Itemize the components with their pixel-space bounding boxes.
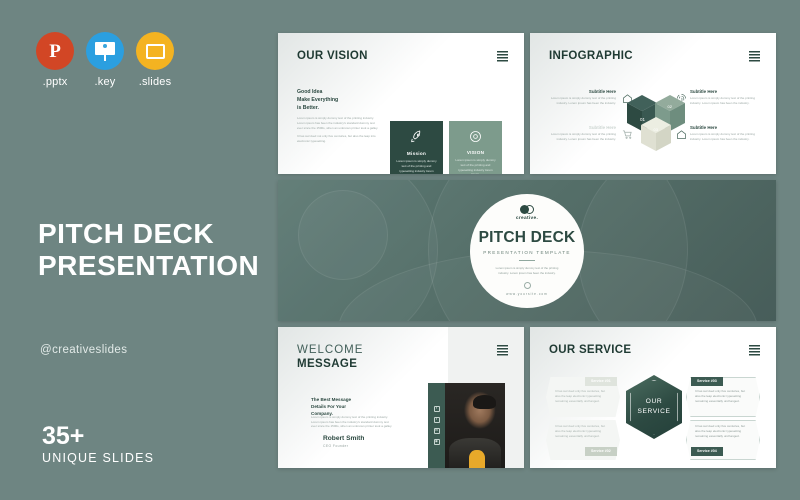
social-icon-strip: f t in ◉ — [428, 383, 445, 468]
service-body: It has survived only five centuries, but… — [555, 424, 611, 438]
service-tag: Service #02 — [585, 447, 617, 456]
slide-our-service[interactable]: OUR SERVICE Service #01 Service #02 Serv… — [530, 327, 776, 468]
twitter-icon[interactable]: t — [434, 417, 440, 423]
cover-body: Lorem ipsum is simply dummy text of the … — [490, 266, 564, 276]
linkedin-icon[interactable]: in — [434, 428, 440, 434]
slide-title: INFOGRAPHIC — [549, 50, 633, 62]
format-slides-label: .slides — [136, 76, 174, 88]
infographic-item: Subtitle Here Lorem ipsum is simply dumm… — [546, 125, 616, 141]
slide-cover[interactable]: creative. PITCH DECK PRESENTATION TEMPLA… — [278, 180, 776, 321]
globe-icon — [524, 282, 531, 289]
person-name: Robert Smith — [323, 435, 364, 442]
two-circles-logo — [520, 205, 535, 214]
vision-card-title: VISION — [467, 150, 484, 155]
infographic-subtitle: Subtitle Here — [546, 89, 616, 94]
promo-title: PITCH DECK PRESENTATION — [38, 218, 259, 283]
divider — [519, 260, 535, 261]
slide-count-block: 35+ UNIQUE SLIDES — [42, 423, 154, 465]
slide-our-vision[interactable]: OUR VISION Good Idea Make Everything is … — [278, 33, 524, 174]
vision-heading: Good Idea Make Everything is Better. — [297, 89, 379, 112]
service-center-hexagon: OUR SERVICE — [626, 375, 682, 439]
service-tag: Service #04 — [691, 447, 723, 456]
infographic-item: Subtitle Here Lorem ipsum is simply dumm… — [546, 89, 616, 105]
vision-card-mission[interactable]: Mission Lorem ipsum is simply dummy text… — [390, 121, 443, 174]
rocket-icon — [409, 129, 425, 145]
format-pptx-label: .pptx — [36, 76, 74, 88]
svg-text:01: 01 — [640, 117, 646, 122]
infographic-subtitle: Subtitle Here — [690, 89, 760, 94]
person-role: CEO Founder — [323, 444, 348, 448]
hamburger-icon — [497, 51, 508, 62]
social-handle: @creativeslides — [40, 344, 127, 356]
eye-target-icon — [468, 129, 484, 144]
format-key[interactable]: .key — [86, 32, 124, 88]
infographic-subtitle: Subtitle Here — [690, 125, 760, 130]
infographic-item: Subtitle Here Lorem ipsum is simply dumm… — [690, 125, 760, 141]
isometric-cubes: 01 02 03 — [625, 81, 687, 158]
powerpoint-icon: P — [36, 32, 74, 70]
service-body: It has survived only five centuries, but… — [555, 389, 611, 403]
format-key-label: .key — [86, 76, 124, 88]
cover-subtitle: PRESENTATION TEMPLATE — [483, 250, 570, 255]
welcome-title-line1: WELCOME — [297, 344, 363, 356]
keynote-icon — [86, 32, 124, 70]
cover-circle: creative. PITCH DECK PRESENTATION TEMPLA… — [470, 194, 584, 308]
vision-card-title: Mission — [407, 151, 426, 156]
slide-welcome-message[interactable]: WELCOME MESSAGE The Best Message Details… — [278, 327, 524, 468]
welcome-title-line2: MESSAGE — [297, 358, 357, 370]
cover-url: www.yoursite.com — [506, 292, 548, 296]
vision-paragraph-1: Lorem ipsum is simply dummy text of the … — [297, 116, 379, 130]
slide-title: OUR VISION — [297, 50, 368, 62]
infographic-body: Lorem ipsum is simply dummy text of the … — [546, 96, 616, 105]
service-tag: Service #01 — [585, 377, 617, 386]
google-slides-icon — [136, 32, 174, 70]
hamburger-icon — [497, 345, 508, 356]
slide-count-label: UNIQUE SLIDES — [42, 451, 154, 465]
slide-title: OUR SERVICE — [549, 344, 631, 356]
slide-infographic[interactable]: INFOGRAPHIC Subtitle Here Lorem ipsum is… — [530, 33, 776, 174]
service-body: It has survived only five centuries, but… — [695, 389, 751, 403]
infographic-body: Lorem ipsum is simply dummy text of the … — [546, 132, 616, 141]
vision-text-column: Good Idea Make Everything is Better. Lor… — [297, 89, 379, 144]
service-center-line2: SERVICE — [637, 407, 670, 417]
vision-paragraph-2: It has survived not only five centuries,… — [297, 134, 379, 143]
promo-title-line2: PRESENTATION — [38, 250, 259, 282]
hamburger-icon — [749, 51, 760, 62]
facebook-icon[interactable]: f — [434, 406, 440, 412]
format-icon-group: P .pptx .key .slides — [36, 32, 174, 88]
vision-card-body: Lorem ipsum is simply dummy text of the … — [396, 159, 438, 174]
vision-card-group: Mission Lorem ipsum is simply dummy text… — [390, 121, 502, 174]
infographic-item: Subtitle Here Lorem ipsum is simply dumm… — [690, 89, 760, 105]
slide-preview-grid: OUR VISION Good Idea Make Everything is … — [278, 33, 778, 469]
infographic-body: Lorem ipsum is simply dummy text of the … — [690, 96, 760, 105]
service-body: It has survived only five centuries, but… — [695, 424, 751, 438]
svg-text:03: 03 — [654, 127, 659, 132]
welcome-body: Lorem ipsum is simply dummy text of the … — [311, 415, 395, 429]
left-promo-panel: P .pptx .key .slides PITCH DECK PRESENTA… — [0, 0, 278, 500]
vision-card-vision[interactable]: VISION Lorem ipsum is simply dummy text … — [449, 121, 502, 174]
infographic-body: Lorem ipsum is simply dummy text of the … — [690, 132, 760, 141]
cover-title: PITCH DECK — [479, 229, 576, 247]
infographic-subtitle: Subtitle Here — [546, 125, 616, 130]
promo-title-line1: PITCH DECK — [38, 218, 259, 250]
format-pptx[interactable]: P .pptx — [36, 32, 74, 88]
slide-count-number: 35+ — [42, 423, 154, 449]
hamburger-icon — [749, 345, 760, 356]
vision-card-body: Lorem ipsum is simply dummy text of the … — [455, 158, 497, 174]
format-slides[interactable]: .slides — [136, 32, 174, 88]
instagram-icon[interactable]: ◉ — [434, 439, 440, 445]
service-tag: Service #03 — [691, 377, 723, 386]
svg-text:02: 02 — [668, 104, 673, 109]
portrait-photo — [445, 383, 505, 468]
service-center-line1: OUR — [646, 397, 662, 407]
logo-word: creative. — [516, 216, 538, 221]
